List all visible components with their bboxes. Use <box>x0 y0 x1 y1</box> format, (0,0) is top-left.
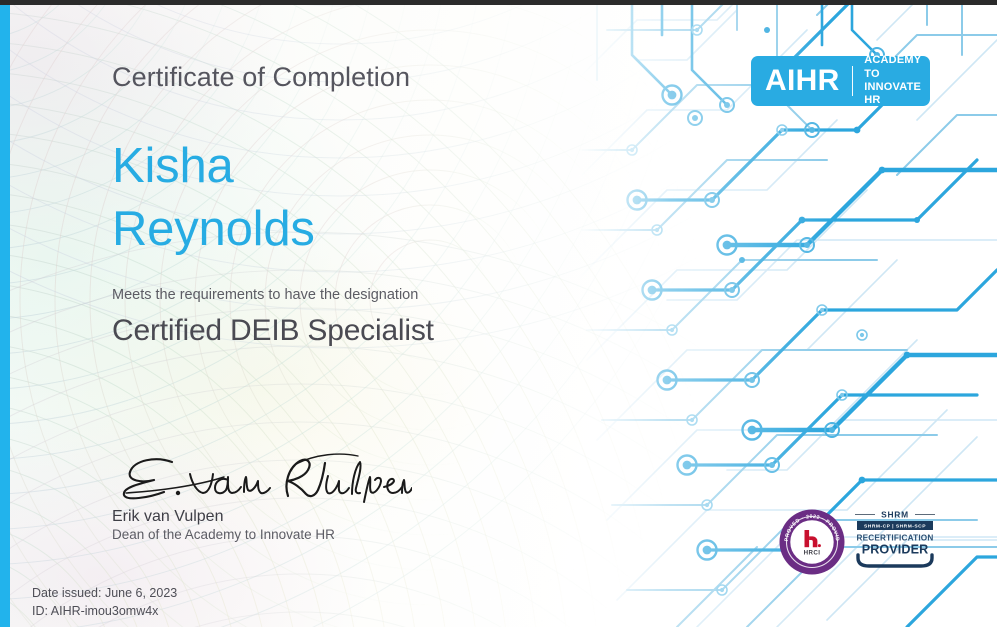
designation-title: Certified DEIB Specialist <box>112 314 434 348</box>
svg-text:HRCI: HRCI <box>804 549 821 556</box>
aihr-logo-tagline: ACADEMY TO INNOVATE HR <box>864 54 930 108</box>
svg-text:RECERTIFICATION: RECERTIFICATION <box>857 534 934 543</box>
svg-text:PROVIDER: PROVIDER <box>862 542 929 556</box>
left-accent-rail <box>0 5 10 627</box>
signer-name: Erik van Vulpen <box>112 508 223 526</box>
signer-role: Dean of the Academy to Innovate HR <box>112 527 335 542</box>
aihr-logo-wordmark: AIHR <box>751 66 840 96</box>
shrm-recertification-provider-badge: SHRM SHRM-CP | SHRM-SCP RECERTIFICATION … <box>851 508 939 568</box>
certificate-footer: Date issued: June 6, 2023 ID: AIHR-imou3… <box>32 585 177 621</box>
requirements-statement: Meets the requirements to have the desig… <box>112 287 418 303</box>
recipient-name: Kisha Reynolds <box>112 135 315 260</box>
recipient-first-name: Kisha <box>112 135 315 198</box>
aihr-logo-tagline-line1: ACADEMY TO <box>864 54 930 81</box>
aihr-logo-divider <box>852 66 854 96</box>
certificate-page: AIHR ACADEMY TO INNOVATE HR APPROVED · 2… <box>0 0 997 627</box>
signature-image <box>112 450 412 506</box>
recipient-last-name: Reynolds <box>112 198 315 261</box>
date-issued: Date issued: June 6, 2023 <box>32 585 177 603</box>
svg-text:SHRM-CP | SHRM-SCP: SHRM-CP | SHRM-SCP <box>864 524 926 530</box>
page-title: Certificate of Completion <box>112 62 410 93</box>
aihr-logo: AIHR ACADEMY TO INNOVATE HR <box>751 56 930 106</box>
top-edge-strip <box>0 0 997 5</box>
aihr-logo-tagline-line2: INNOVATE HR <box>864 81 930 108</box>
hrci-approved-provider-badge: APPROVED · 2022 · PROVIDER HRCI.ORG HRCI <box>779 509 845 575</box>
certificate-id: ID: AIHR-imou3omw4x <box>32 603 177 621</box>
svg-text:SHRM: SHRM <box>881 510 909 520</box>
